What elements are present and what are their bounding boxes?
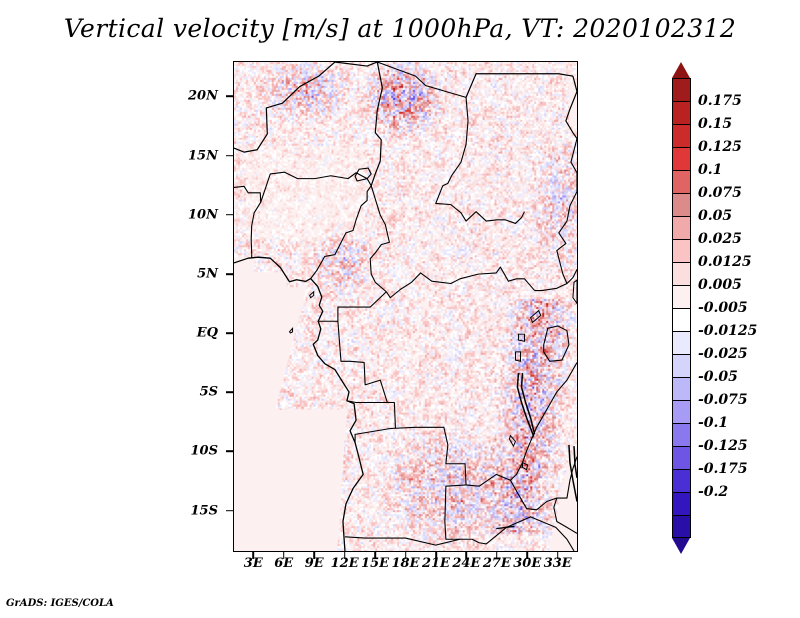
y-axis-tick-mark xyxy=(226,332,234,334)
colorbar-swatch xyxy=(672,239,691,262)
y-axis-tick-label: 15N xyxy=(188,148,218,163)
y-axis-tick-label: 15S xyxy=(191,503,218,518)
colorbar-swatch xyxy=(672,400,691,423)
colorbar-tick-label: 0.1 xyxy=(698,162,722,178)
colorbar-swatch xyxy=(672,515,691,538)
colorbar-swatch xyxy=(672,308,691,331)
colorbar-swatch xyxy=(672,262,691,285)
colorbar-arrow-top xyxy=(672,62,690,78)
x-axis-tick-mark xyxy=(526,552,528,559)
y-axis-tick-label: 5S xyxy=(200,385,218,400)
colorbar-tick-label: -0.025 xyxy=(698,346,748,362)
colorbar-swatch xyxy=(672,469,691,492)
x-axis-tick-mark xyxy=(405,552,407,559)
x-axis-tick-mark xyxy=(435,552,437,559)
y-axis-tick-label: 10S xyxy=(191,444,218,459)
colorbar-tick-label: 0.125 xyxy=(698,139,742,155)
y-axis-tick-label: 20N xyxy=(188,89,218,104)
colorbar-swatch xyxy=(672,446,691,469)
x-axis-tick-mark xyxy=(283,552,285,559)
colorbar-swatch xyxy=(672,78,691,101)
colorbar-tick-label: -0.05 xyxy=(698,369,738,385)
colorbar-tick-label: -0.175 xyxy=(698,461,748,477)
colorbar-swatch xyxy=(672,354,691,377)
x-axis-tick-mark xyxy=(466,552,468,559)
colorbar-tick-label: 0.005 xyxy=(698,277,742,293)
y-axis-tick-mark xyxy=(226,214,234,216)
colorbar[interactable] xyxy=(672,78,691,538)
colorbar-tick-label: 0.0125 xyxy=(698,254,752,270)
x-axis-tick-mark xyxy=(344,552,346,559)
colorbar-swatch xyxy=(672,147,691,170)
y-axis-tick-label: 10N xyxy=(188,207,218,222)
colorbar-swatch xyxy=(672,331,691,354)
colorbar-swatch xyxy=(672,170,691,193)
map-plot-area[interactable] xyxy=(233,61,578,552)
colorbar-tick-label: 0.175 xyxy=(698,93,742,109)
colorbar-swatch xyxy=(672,423,691,446)
colorbar-tick-label: -0.125 xyxy=(698,438,748,454)
x-axis-tick-mark xyxy=(374,552,376,559)
colorbar-swatch xyxy=(672,285,691,308)
colorbar-tick-label: 0.025 xyxy=(698,231,742,247)
colorbar-tick-label: -0.075 xyxy=(698,392,748,408)
colorbar-tick-label: 0.075 xyxy=(698,185,742,201)
footer-credit: GrADS: IGES/COLA xyxy=(6,598,114,609)
y-axis-tick-mark xyxy=(226,273,234,275)
colorbar-tick-label: 0.05 xyxy=(698,208,732,224)
x-axis-tick-mark xyxy=(313,552,315,559)
y-axis-tick-mark xyxy=(226,391,234,393)
y-axis-tick-mark xyxy=(226,510,234,512)
colorbar-tick-label: -0.005 xyxy=(698,300,748,316)
colorbar-arrow-bottom xyxy=(672,538,690,554)
colorbar-tick-label: -0.1 xyxy=(698,415,728,431)
colorbar-swatch xyxy=(672,101,691,124)
colorbar-tick-label: 0.15 xyxy=(698,116,732,132)
colorbar-swatch xyxy=(672,492,691,515)
page-title: Vertical velocity [m/s] at 1000hPa, VT: … xyxy=(0,14,800,43)
y-axis-tick-mark xyxy=(226,96,234,98)
x-axis-tick-mark xyxy=(557,552,559,559)
x-axis-tick-mark xyxy=(252,552,254,559)
x-axis-tick-mark xyxy=(496,552,498,559)
y-axis-tick-label: 5N xyxy=(197,266,218,281)
colorbar-swatch xyxy=(672,193,691,216)
colorbar-swatch xyxy=(672,377,691,400)
colorbar-tick-label: -0.0125 xyxy=(698,323,757,339)
vertical-velocity-field xyxy=(234,62,577,551)
y-axis-tick-mark xyxy=(226,451,234,453)
colorbar-tick-label: -0.2 xyxy=(698,484,728,500)
colorbar-swatch xyxy=(672,216,691,239)
y-axis-tick-mark xyxy=(226,155,234,157)
y-axis-tick-label: EQ xyxy=(197,326,218,341)
colorbar-swatch xyxy=(672,124,691,147)
